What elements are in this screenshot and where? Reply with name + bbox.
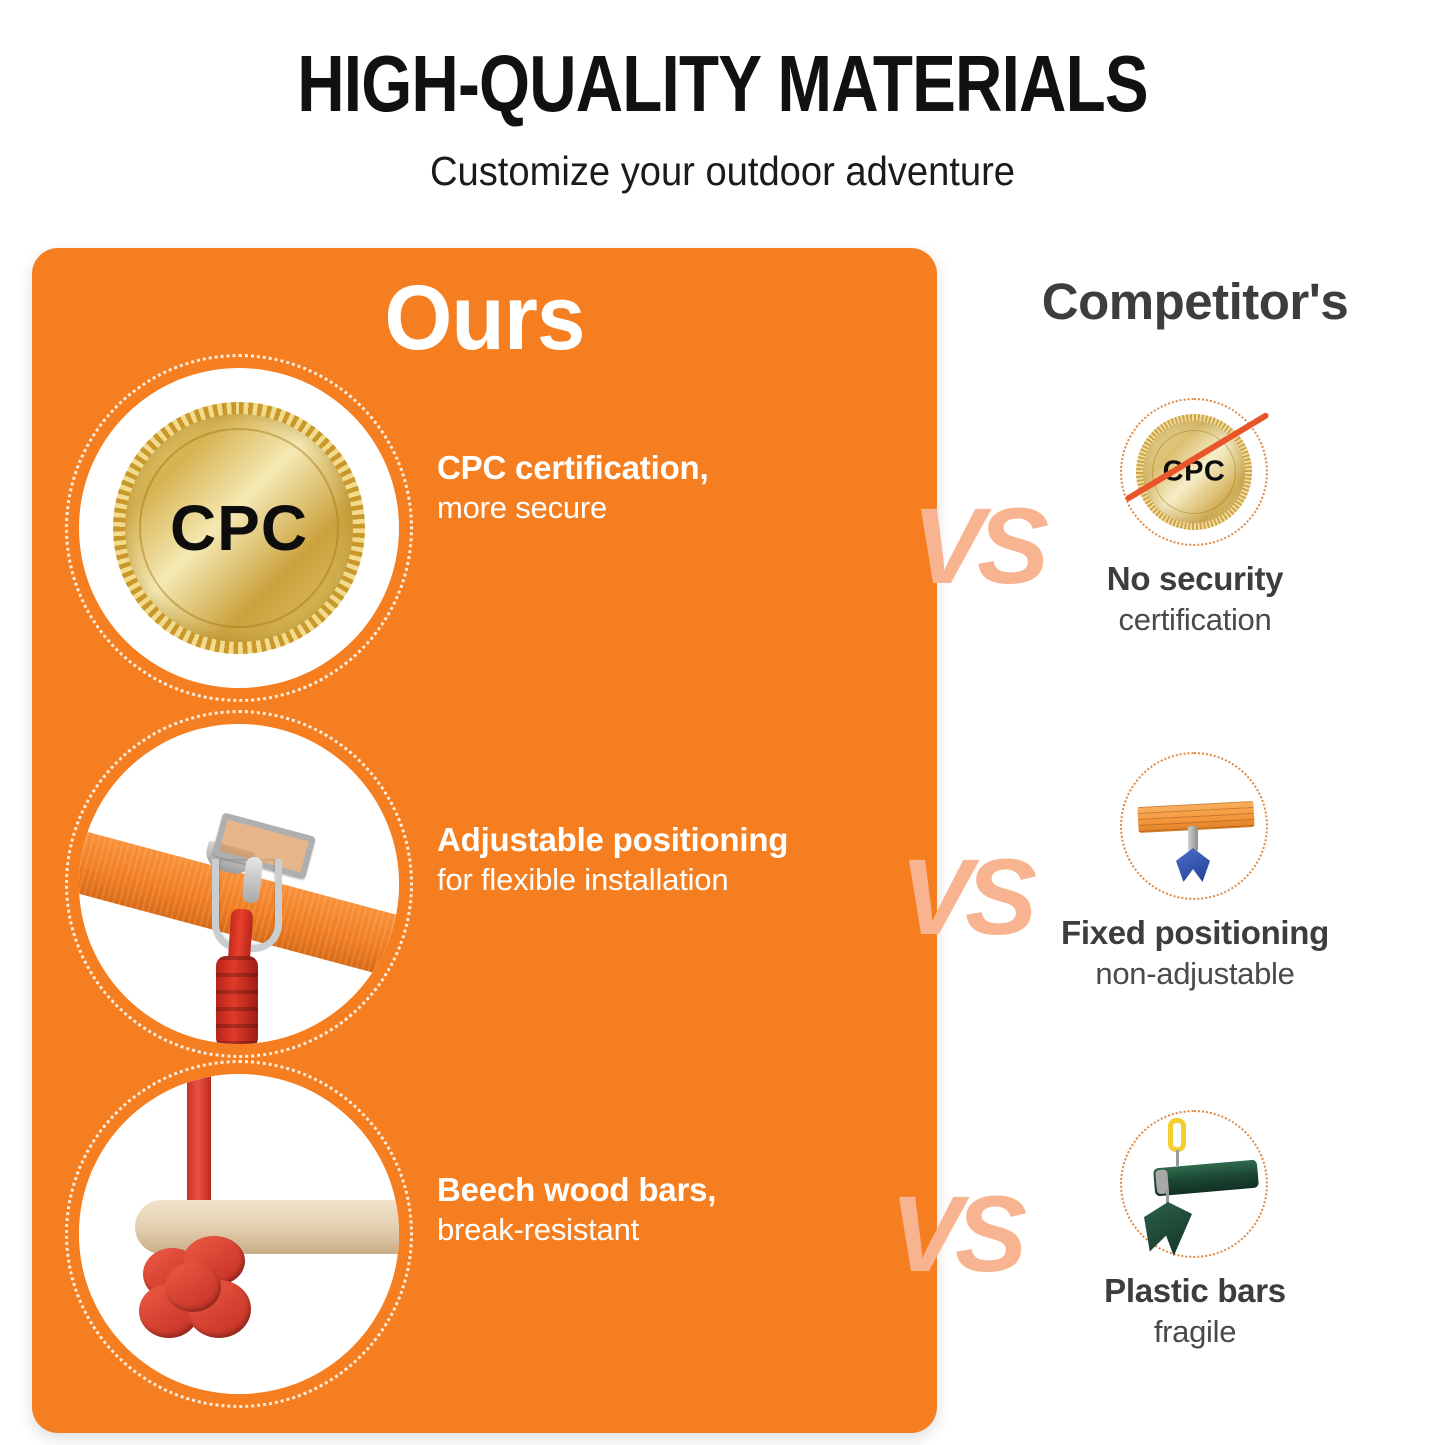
competitor-feature-row-plastic: Plastic bars fragile xyxy=(1000,1110,1390,1352)
competitor-title: Competitor's xyxy=(965,272,1425,331)
beech-bar-scene xyxy=(79,1074,399,1394)
competitor-feature-line2: non-adjustable xyxy=(1000,954,1390,994)
competitor-feature-line2: fragile xyxy=(1000,1312,1390,1352)
ours-photo-beech-bar xyxy=(79,1074,399,1394)
ours-feature-row-cpc: CPC CPC certification, more secure xyxy=(32,360,937,705)
header: HIGH-QUALITY MATERIALS Customize your ou… xyxy=(0,0,1445,195)
yellow-carabiner-icon xyxy=(1168,1118,1186,1152)
competitor-feature-line1: Plastic bars xyxy=(1000,1270,1390,1312)
ours-feature-line1: CPC certification, xyxy=(437,448,917,488)
ours-feature-text-beech: Beech wood bars, break-resistant xyxy=(437,1170,917,1250)
red-rope-knot xyxy=(137,1232,261,1348)
ours-photo-strap-carabiner xyxy=(79,724,399,1044)
page-title: HIGH-QUALITY MATERIALS xyxy=(130,0,1315,126)
competitor-photo-cpc-crossed: CPC xyxy=(1110,398,1280,546)
competitor-photo-fixed-strap xyxy=(1110,752,1280,900)
ours-feature-row-adjustable: Adjustable positioning for flexible inst… xyxy=(32,716,937,1061)
ours-feature-line2: more secure xyxy=(437,488,917,528)
page-subtitle: Customize your outdoor adventure xyxy=(51,126,1395,195)
ours-feature-line1: Adjustable positioning xyxy=(437,820,917,860)
competitor-feature-line1: No security xyxy=(1000,558,1390,600)
competitor-feature-line2: certification xyxy=(1000,600,1390,640)
vs-badge: VS xyxy=(900,843,1030,951)
ours-title: Ours xyxy=(55,266,915,371)
competitor-feature-line1: Fixed positioning xyxy=(1000,912,1390,954)
infographic-root: HIGH-QUALITY MATERIALS Customize your ou… xyxy=(0,0,1445,1445)
ours-feature-text-adjustable: Adjustable positioning for flexible inst… xyxy=(437,820,917,900)
link-connector xyxy=(1176,1150,1179,1166)
ours-photo-cpc-medal: CPC xyxy=(79,368,399,688)
competitor-feature-text-cpc: No security certification xyxy=(1000,558,1390,640)
gold-medal-icon: CPC xyxy=(113,402,365,654)
ours-feature-text-cpc: CPC certification, more secure xyxy=(437,448,917,528)
ours-feature-line2: break-resistant xyxy=(437,1210,917,1250)
competitor-feature-row-cpc: CPC No security certification xyxy=(1000,398,1390,640)
vs-badge: VS xyxy=(890,1180,1020,1288)
medal-label: CPC xyxy=(113,491,365,565)
strap-scene xyxy=(79,724,399,1044)
vs-badge: VS xyxy=(912,492,1042,600)
ours-panel: Ours CPC CPC certification, more secure xyxy=(32,248,937,1433)
ours-feature-line2: for flexible installation xyxy=(437,860,917,900)
competitor-feature-text-fixed: Fixed positioning non-adjustable xyxy=(1000,912,1390,994)
competitor-photo-plastic-bar xyxy=(1110,1110,1280,1258)
red-rope-grip xyxy=(216,956,258,1044)
ours-feature-row-beech: Beech wood bars, break-resistant xyxy=(32,1066,937,1411)
competitor-feature-row-fixed: Fixed positioning non-adjustable xyxy=(1000,752,1390,994)
ours-feature-line1: Beech wood bars, xyxy=(437,1170,917,1210)
competitor-feature-text-plastic: Plastic bars fragile xyxy=(1000,1270,1390,1352)
